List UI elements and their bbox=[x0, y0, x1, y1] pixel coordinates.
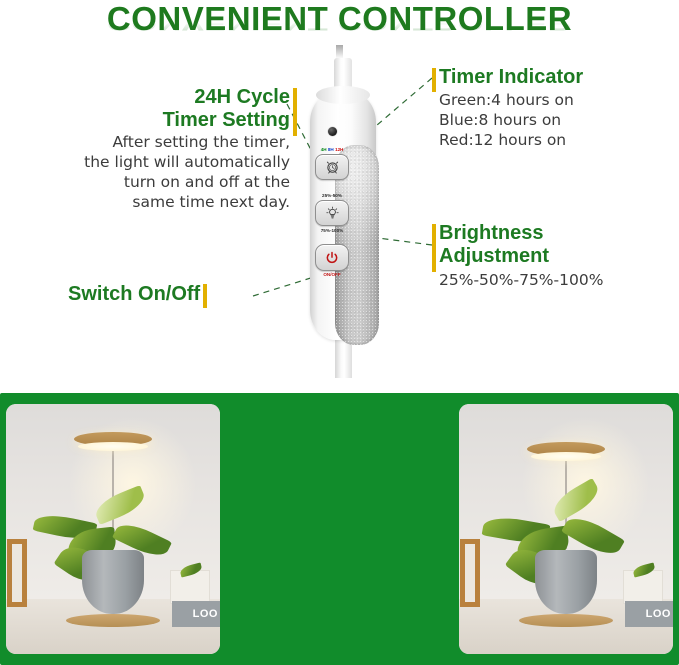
callout-line: Green:4 hours on bbox=[439, 90, 583, 110]
callout-body: After setting the timer, the light will … bbox=[50, 132, 290, 212]
callout-cycle-timer: 24H Cycle Timer Setting After setting th… bbox=[50, 86, 290, 212]
controller-device: 4H 8H 12H 25%-50% bbox=[296, 58, 392, 378]
timer-label-12h: 12H bbox=[335, 147, 343, 152]
power-label: ON/OFF bbox=[314, 272, 350, 277]
pot-wooden-base bbox=[66, 614, 160, 627]
bulb-icon bbox=[326, 206, 339, 220]
picture-frame bbox=[7, 539, 27, 607]
callout-line: same time next day. bbox=[50, 192, 290, 212]
product-photo-right: LOO bbox=[459, 404, 673, 654]
callout-title: Switch On/Off bbox=[68, 283, 200, 306]
brightness-button[interactable] bbox=[315, 200, 349, 226]
labelled-box: LOO bbox=[625, 601, 673, 627]
timer-button[interactable] bbox=[315, 154, 349, 180]
picture-frame bbox=[460, 539, 480, 607]
clock-icon bbox=[324, 160, 341, 174]
callout-title-line2: Timer Setting bbox=[50, 109, 290, 132]
lamp-light-panel bbox=[531, 452, 601, 461]
callout-timer-indicator: Timer Indicator Green:4 hours on Blue:8 … bbox=[439, 66, 583, 150]
callout-switch-onoff: Switch On/Off bbox=[68, 283, 200, 306]
power-icon bbox=[325, 251, 339, 265]
callout-body: Green:4 hours on Blue:8 hours on Red:12 … bbox=[439, 90, 583, 150]
callout-title-line1: Brightness bbox=[439, 222, 603, 245]
callout-title-line1: 24H Cycle bbox=[50, 86, 290, 109]
callout-line: Red:12 hours on bbox=[439, 130, 583, 150]
timer-label-8h: 8H bbox=[328, 147, 334, 152]
plant-pot bbox=[535, 550, 597, 614]
brightness-label-bottom: 75%-100% bbox=[314, 228, 350, 233]
pot-wooden-base bbox=[519, 614, 613, 627]
callout-title: Timer Indicator bbox=[439, 66, 583, 89]
product-photo-left: LOO bbox=[6, 404, 220, 654]
labelled-box: LOO bbox=[172, 601, 220, 627]
mini-plant bbox=[180, 565, 206, 579]
bottom-panel: LOO bbox=[0, 393, 679, 665]
mini-plant bbox=[633, 565, 659, 579]
timer-label-4h: 4H bbox=[321, 147, 327, 152]
controller-body: 4H 8H 12H 25%-50% bbox=[310, 92, 376, 340]
box-label: LOO bbox=[646, 608, 673, 620]
callout-title-line2: Adjustment bbox=[439, 245, 603, 268]
infographic-page: CONVENIENT CONTROLLER CONVENIENT CONTROL… bbox=[0, 0, 679, 665]
accent-bar bbox=[432, 224, 436, 272]
callout-line: 25%-50%-75%-100% bbox=[439, 270, 603, 290]
brightness-label-top: 25%-50% bbox=[314, 193, 350, 198]
callout-line: the light will automatically bbox=[50, 152, 290, 172]
callout-brightness-adjustment: Brightness Adjustment 25%-50%-75%-100% bbox=[439, 222, 603, 290]
accent-bar bbox=[432, 68, 436, 92]
photo-scene: LOO bbox=[459, 404, 673, 654]
photo-scene: LOO bbox=[6, 404, 220, 654]
callout-body: 25%-50%-75%-100% bbox=[439, 270, 603, 290]
accent-bar bbox=[203, 284, 207, 308]
leaf bbox=[179, 562, 203, 577]
accent-bar bbox=[293, 88, 297, 136]
box-label: LOO bbox=[193, 608, 220, 620]
plant-pot bbox=[82, 550, 144, 614]
lamp-light-panel bbox=[78, 442, 148, 451]
leaf bbox=[632, 562, 656, 577]
callout-line: turn on and off at the bbox=[50, 172, 290, 192]
power-button[interactable] bbox=[315, 244, 349, 271]
callout-line: After setting the timer, bbox=[50, 132, 290, 152]
led-indicator-dot bbox=[328, 127, 337, 136]
callout-line: Blue:8 hours on bbox=[439, 110, 583, 130]
timer-button-labels: 4H 8H 12H bbox=[314, 147, 350, 152]
